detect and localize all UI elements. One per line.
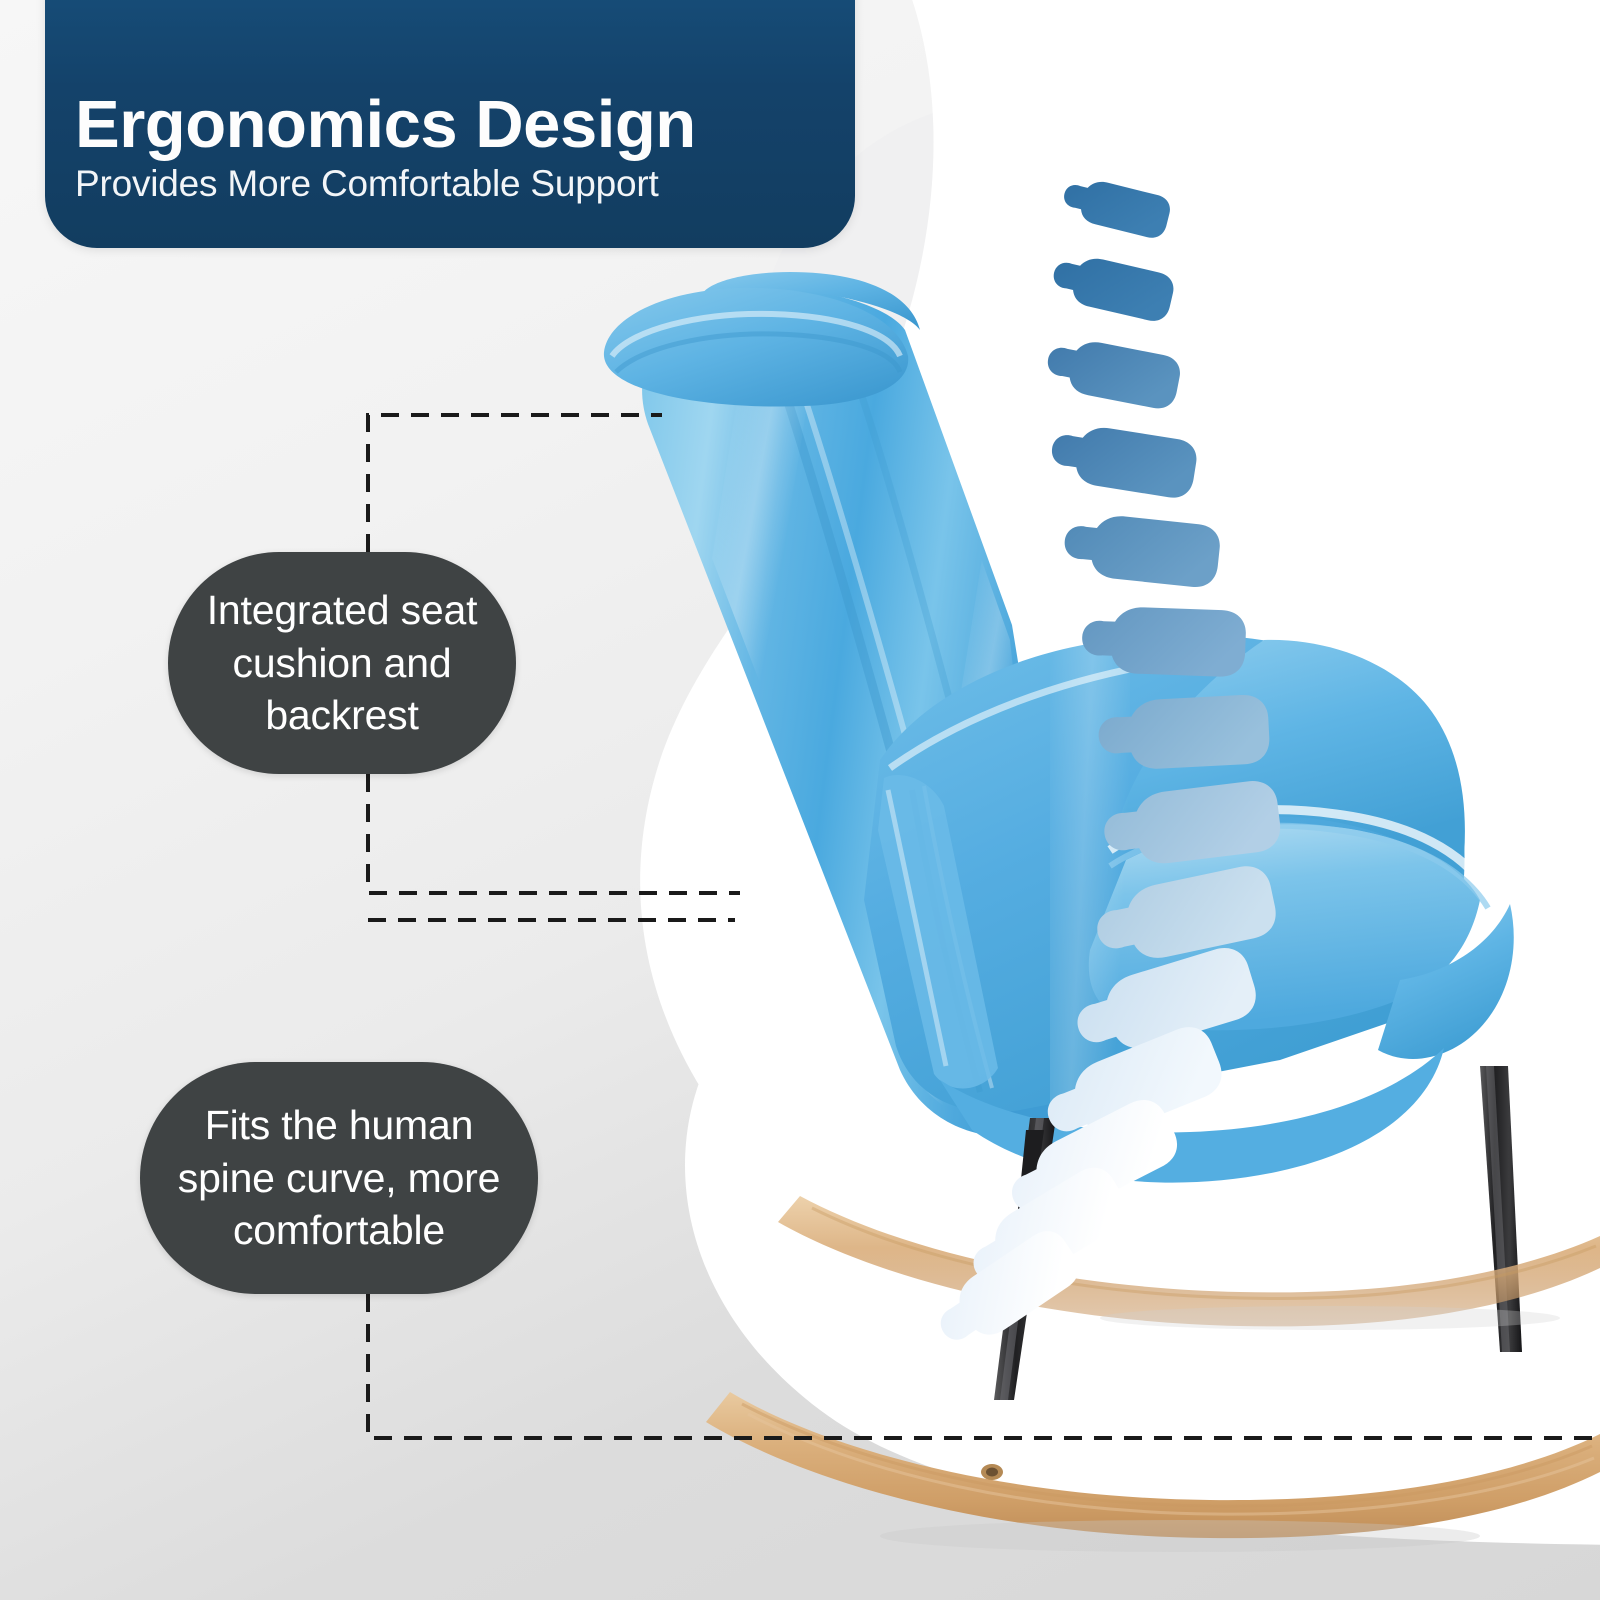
vertebra	[1059, 173, 1173, 241]
vertebra	[1061, 510, 1222, 589]
vertebra	[1043, 334, 1183, 412]
vertebra	[1090, 861, 1280, 969]
vertebra	[1047, 420, 1199, 501]
callout-seat-cushion: Integrated seat cushion and backrest	[168, 552, 516, 774]
vertebra	[1097, 694, 1271, 772]
vertebra	[1100, 778, 1283, 870]
vertebra	[1048, 249, 1176, 324]
infographic-canvas: Ergonomics Design Provides More Comforta…	[0, 0, 1600, 1600]
banner-title: Ergonomics Design	[75, 91, 821, 159]
callout-spine-curve: Fits the human spine curve, more comfort…	[140, 1062, 538, 1294]
banner-subtitle: Provides More Comfortable Support	[75, 165, 821, 204]
vertebra	[1081, 605, 1247, 677]
header-banner: Ergonomics Design Provides More Comforta…	[45, 0, 855, 248]
callout-seat-cushion-label: Integrated seat cushion and backrest	[168, 584, 516, 741]
callout-spine-curve-label: Fits the human spine curve, more comfort…	[140, 1099, 538, 1256]
vertebra-list	[927, 173, 1283, 1359]
